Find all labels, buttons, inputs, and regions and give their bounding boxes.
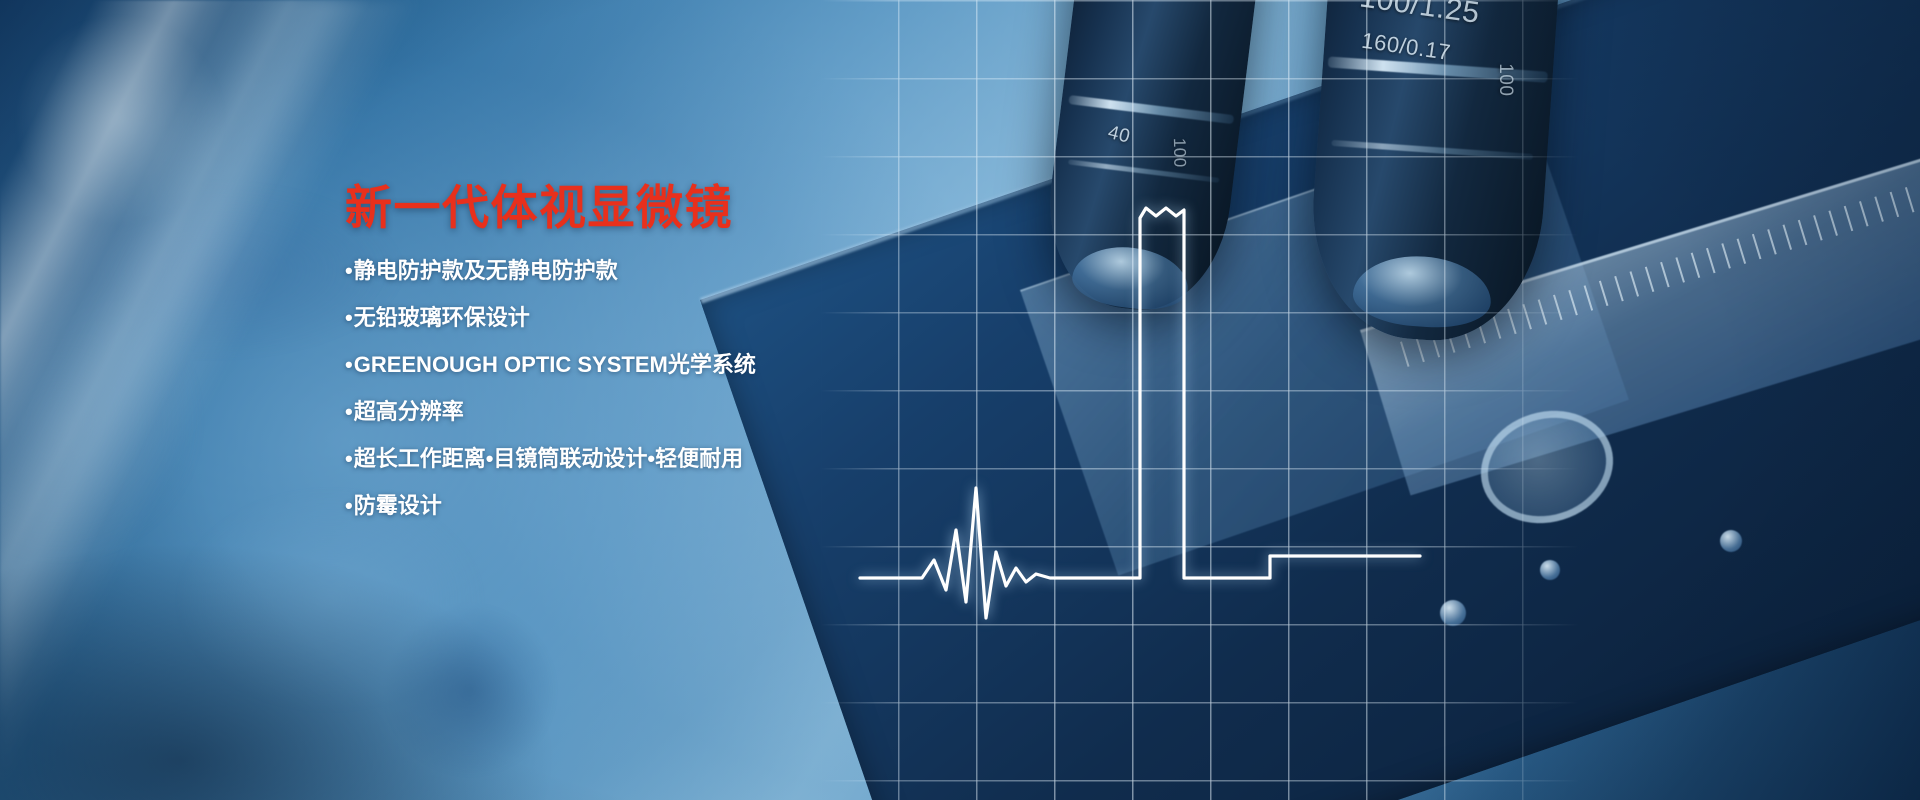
bullet-marker-icon: •	[345, 446, 353, 471]
feature-item-label: 防霉设计	[354, 493, 442, 518]
banner-headline: 新一代体视显微镜	[345, 182, 985, 234]
feature-item-label: GREENOUGH OPTIC SYSTEM光学系统	[354, 352, 756, 377]
bullet-marker-icon: •	[345, 352, 353, 377]
feature-item: •GREENOUGH OPTIC SYSTEM光学系统	[345, 354, 985, 376]
hero-banner: 40 100 100/1.25 160/0.17 100 新一代体视显微镜 •静…	[0, 0, 1920, 800]
feature-item: •静电防护款及无静电防护款	[345, 260, 985, 282]
feature-item-label: 超高分辨率	[354, 399, 464, 424]
feature-item: •防霉设计	[345, 495, 985, 517]
feature-item-label: 无铅玻璃环保设计	[354, 305, 530, 330]
bullet-marker-icon: •	[345, 258, 353, 283]
feature-list: •静电防护款及无静电防护款 •无铅玻璃环保设计 •GREENOUGH OPTIC…	[345, 260, 985, 517]
feature-item: •超长工作距离•目镜筒联动设计•轻便耐用	[345, 448, 985, 470]
feature-item-label: 超长工作距离•目镜筒联动设计•轻便耐用	[354, 446, 743, 471]
feature-item-label: 静电防护款及无静电防护款	[354, 258, 618, 283]
banner-copy: 新一代体视显微镜 •静电防护款及无静电防护款 •无铅玻璃环保设计 •GREENO…	[345, 182, 985, 517]
bullet-marker-icon: •	[345, 493, 353, 518]
bullet-marker-icon: •	[345, 305, 353, 330]
feature-item: •超高分辨率	[345, 401, 985, 423]
bullet-marker-icon: •	[345, 399, 353, 424]
feature-item: •无铅玻璃环保设计	[345, 307, 985, 329]
